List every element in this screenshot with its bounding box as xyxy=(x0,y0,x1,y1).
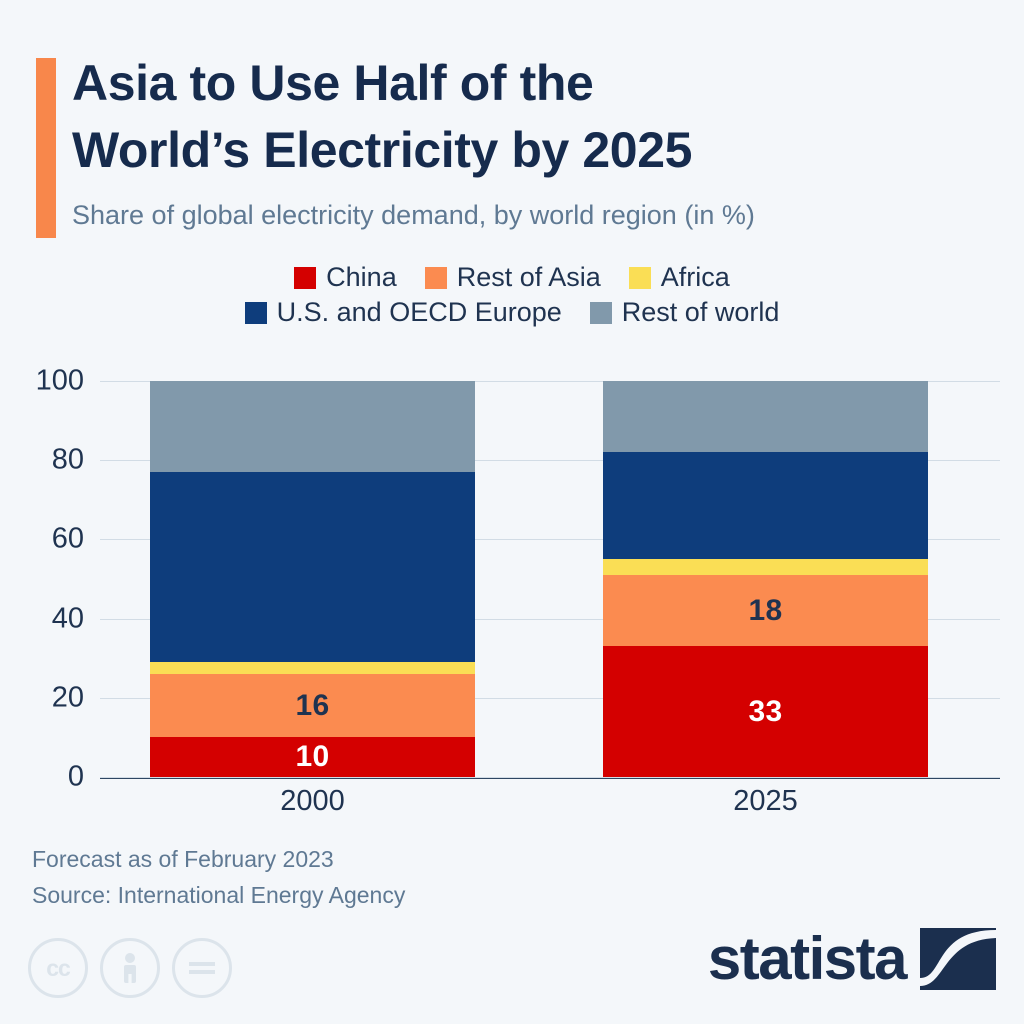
legend-swatch-icon xyxy=(245,302,267,324)
legend-row: ChinaRest of AsiaAfrica xyxy=(280,262,744,293)
y-axis-tick-label: 100 xyxy=(0,365,84,398)
bar-segment[interactable] xyxy=(150,381,475,472)
bar-segment[interactable]: 33 xyxy=(603,646,928,777)
legend-label: Rest of Asia xyxy=(457,262,601,293)
page-title-line-2: World’s Electricity by 2025 xyxy=(72,117,982,184)
bar-segment[interactable] xyxy=(150,662,475,674)
y-axis-labels: 020406080100 xyxy=(0,381,1024,777)
bar-segment[interactable] xyxy=(603,559,928,575)
forecast-note: Forecast as of February 2023 xyxy=(32,846,334,873)
bar-value-label: 16 xyxy=(296,689,330,723)
x-axis-category-label: 2000 xyxy=(280,785,345,818)
y-axis-tick-label: 60 xyxy=(0,523,84,556)
legend-swatch-icon xyxy=(629,267,651,289)
cc-no-derivatives-icon[interactable] xyxy=(172,938,232,998)
x-axis-category-label: 2025 xyxy=(733,785,798,818)
accent-bar xyxy=(36,58,56,238)
statista-logo[interactable]: statista xyxy=(708,928,996,990)
y-axis-tick-label: 80 xyxy=(0,444,84,477)
stacked-bar[interactable]: 1016 xyxy=(150,381,475,777)
plot-area: 1016200033182025 xyxy=(100,381,1000,777)
x-axis-line xyxy=(100,777,1000,779)
gridline xyxy=(100,381,1000,382)
legend-item[interactable]: U.S. and OECD Europe xyxy=(245,297,562,328)
creative-commons-icons: cc xyxy=(28,938,232,998)
chart-legend: ChinaRest of AsiaAfricaU.S. and OECD Eur… xyxy=(0,262,1024,328)
bar-value-label: 18 xyxy=(749,594,783,628)
legend-label: China xyxy=(326,262,397,293)
page-subtitle: Share of global electricity demand, by w… xyxy=(72,198,992,233)
page-title: Asia to Use Half of the World’s Electric… xyxy=(72,50,982,184)
legend-label: Africa xyxy=(661,262,730,293)
bar-segment[interactable]: 16 xyxy=(150,674,475,737)
legend-row: U.S. and OECD EuropeRest of world xyxy=(231,297,794,328)
creative-commons-icon[interactable]: cc xyxy=(28,938,88,998)
y-axis-tick-label: 40 xyxy=(0,602,84,635)
statista-mark-icon xyxy=(920,928,996,990)
legend-item[interactable]: Rest of Asia xyxy=(425,262,601,293)
statista-wordmark: statista xyxy=(708,929,906,989)
source-note: Source: International Energy Agency xyxy=(32,882,405,909)
bar-segment[interactable]: 18 xyxy=(603,575,928,646)
gridline xyxy=(100,539,1000,540)
cc-attribution-icon[interactable] xyxy=(100,938,160,998)
legend-label: U.S. and OECD Europe xyxy=(277,297,562,328)
y-axis-tick-label: 0 xyxy=(0,761,84,794)
legend-item[interactable]: China xyxy=(294,262,397,293)
bar-value-label: 33 xyxy=(749,695,783,729)
legend-label: Rest of world xyxy=(622,297,780,328)
gridline xyxy=(100,777,1000,778)
gridline xyxy=(100,698,1000,699)
cc-label: cc xyxy=(46,955,70,982)
gridline xyxy=(100,619,1000,620)
stacked-bar[interactable]: 3318 xyxy=(603,381,928,777)
statista-infographic: Asia to Use Half of the World’s Electric… xyxy=(0,0,1024,1024)
bar-segment[interactable] xyxy=(603,381,928,452)
page-title-line-1: Asia to Use Half of the xyxy=(72,50,982,117)
bar-segment[interactable] xyxy=(603,452,928,559)
gridline xyxy=(100,460,1000,461)
legend-swatch-icon xyxy=(590,302,612,324)
bar-value-label: 10 xyxy=(296,740,330,774)
bar-segment[interactable] xyxy=(150,472,475,662)
legend-swatch-icon xyxy=(425,267,447,289)
bar-segment[interactable]: 10 xyxy=(150,737,475,777)
y-axis-tick-label: 20 xyxy=(0,681,84,714)
legend-item[interactable]: Africa xyxy=(629,262,730,293)
legend-item[interactable]: Rest of world xyxy=(590,297,780,328)
legend-swatch-icon xyxy=(294,267,316,289)
